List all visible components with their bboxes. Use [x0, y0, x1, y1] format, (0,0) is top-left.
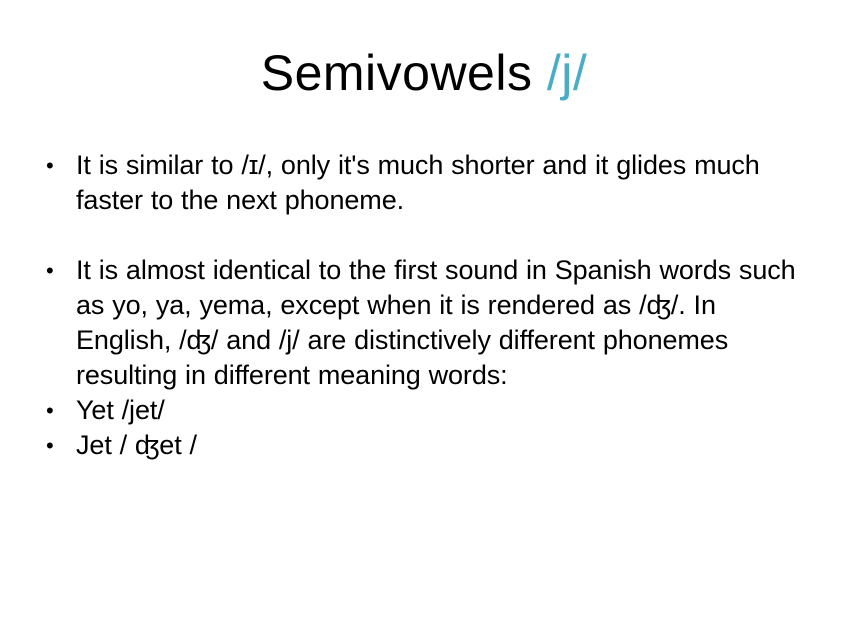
bullet-icon: • — [46, 428, 76, 463]
list-item-text: It is almost identical to the first soun… — [76, 253, 816, 393]
slide-canvas: Semivowels /j/ • It is similar to /ɪ/, o… — [0, 0, 848, 636]
list-item-yet: • Yet /jet/ — [46, 393, 816, 428]
list-item-jet: • Jet / ʤet / — [46, 428, 816, 463]
list-item-similar-to-i: • It is similar to /ɪ/, only it's much s… — [46, 148, 816, 218]
page-title: Semivowels /j/ — [0, 44, 848, 102]
list-item-spanish-comparison: • It is almost identical to the first so… — [46, 253, 816, 393]
bullet-icon: • — [46, 253, 76, 288]
list-item-text: It is similar to /ɪ/, only it's much sho… — [76, 148, 816, 218]
bullet-list: • It is similar to /ɪ/, only it's much s… — [46, 148, 816, 463]
bullet-icon: • — [46, 148, 76, 183]
page-title-phoneme: /j/ — [547, 45, 587, 101]
list-item-text: Jet / ʤet / — [76, 428, 816, 463]
page-title-main: Semivowels — [261, 45, 547, 101]
bullet-icon: • — [46, 393, 76, 428]
list-item-text: Yet /jet/ — [76, 393, 816, 428]
